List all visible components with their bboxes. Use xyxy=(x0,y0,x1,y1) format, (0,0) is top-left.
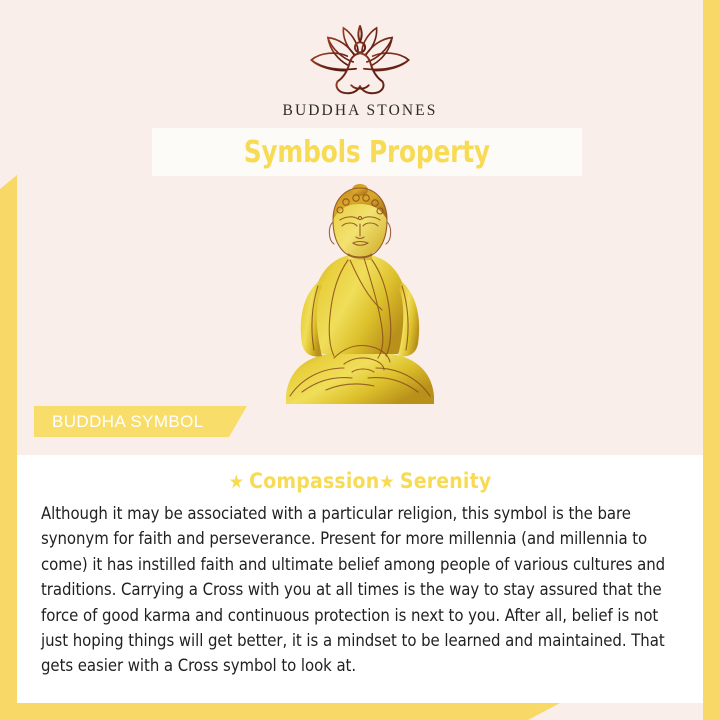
hero-image-wrapper xyxy=(17,182,703,412)
category-ribbon-label: BUDDHA SYMBOL xyxy=(34,412,204,432)
star-icon-right: ★ xyxy=(379,471,395,493)
header-section: BUDDHA STONES Symbols Property xyxy=(17,0,703,455)
category-ribbon: BUDDHA SYMBOL xyxy=(34,406,247,437)
title-banner: Symbols Property xyxy=(152,128,582,176)
seated-golden-buddha-illustration xyxy=(278,182,442,412)
decorative-right-strip xyxy=(703,0,720,720)
lotus-meditation-icon xyxy=(295,24,425,96)
subtitle-word-serenity: Serenity xyxy=(400,469,491,493)
brand-logo: BUDDHA STONES xyxy=(17,24,703,120)
content-card: ★Compassion★Serenity Although it may be … xyxy=(17,455,703,703)
subtitle-word-compassion: Compassion xyxy=(249,469,379,493)
decorative-bottom-band xyxy=(0,703,560,720)
page-title: Symbols Property xyxy=(244,135,490,170)
content-body-text: Although it may be associated with a par… xyxy=(41,501,679,679)
star-icon-left: ★ xyxy=(229,471,245,493)
decorative-left-strip xyxy=(0,175,17,720)
poster-root: BUDDHA STONES Symbols Property xyxy=(0,0,720,720)
brand-name: BUDDHA STONES xyxy=(283,102,438,120)
content-subtitle: ★Compassion★Serenity xyxy=(41,469,679,493)
